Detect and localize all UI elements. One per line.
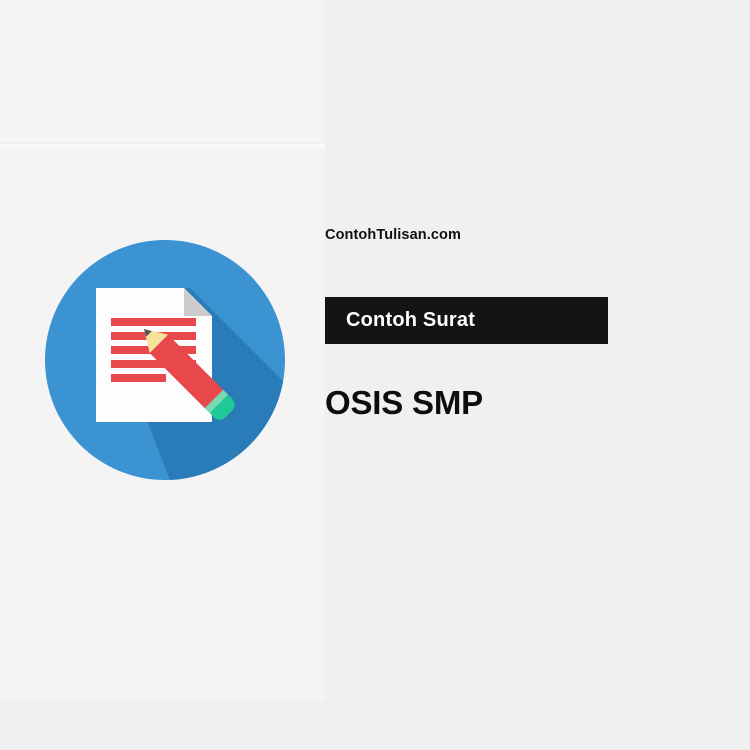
text-column: ContohTulisan.com Contoh Surat OSIS SMP xyxy=(325,0,750,750)
featured-image xyxy=(45,240,285,480)
header-divider xyxy=(0,143,325,147)
page-root: ContohTulisan.com Contoh Surat OSIS SMP xyxy=(0,0,750,750)
category-badge-label: Contoh Surat xyxy=(346,309,475,332)
document-with-pencil-icon xyxy=(45,240,285,480)
site-name: ContohTulisan.com xyxy=(325,227,461,243)
page-title: OSIS SMP xyxy=(325,385,483,421)
category-badge: Contoh Surat xyxy=(325,297,608,344)
